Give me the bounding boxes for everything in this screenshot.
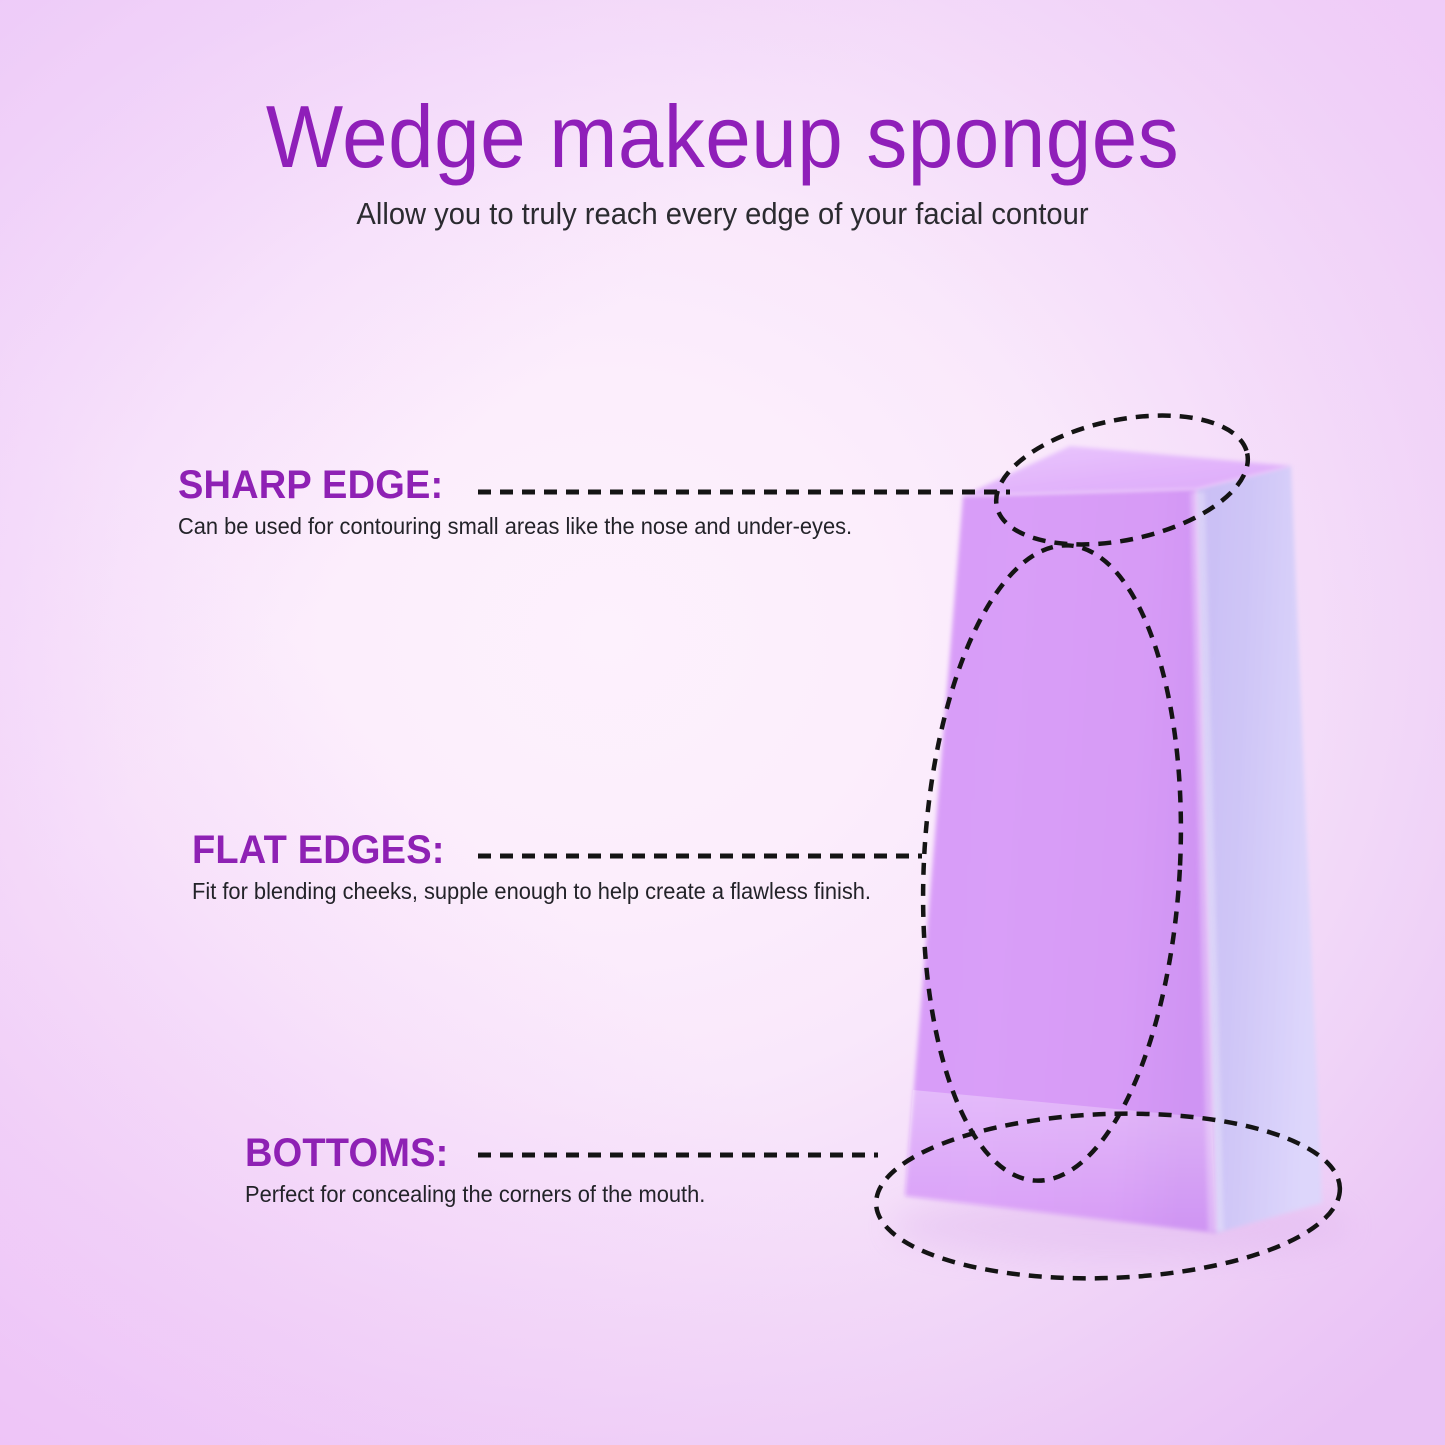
callout-description: Can be used for contouring small areas l…	[178, 505, 852, 539]
callout-bottoms: BOTTOMS: Perfect for concealing the corn…	[245, 1133, 730, 1207]
header: Wedge makeup sponges Allow you to truly …	[0, 0, 1445, 232]
callout-heading: FLAT EDGES:	[192, 830, 871, 870]
infographic-page: Wedge makeup sponges Allow you to truly …	[0, 0, 1445, 1445]
page-title: Wedge makeup sponges	[51, 0, 1395, 182]
callout-heading: BOTTOMS:	[245, 1133, 705, 1173]
callout-flat-edges: FLAT EDGES: Fit for blending cheeks, sup…	[192, 830, 907, 904]
callout-description: Fit for blending cheeks, supple enough t…	[192, 870, 871, 904]
callout-sharp-edge: SHARP EDGE: Can be used for contouring s…	[178, 465, 888, 539]
page-subtitle: Allow you to truly reach every edge of y…	[43, 182, 1401, 232]
callout-heading: SHARP EDGE:	[178, 465, 852, 505]
callout-description: Perfect for concealing the corners of th…	[245, 1173, 705, 1207]
